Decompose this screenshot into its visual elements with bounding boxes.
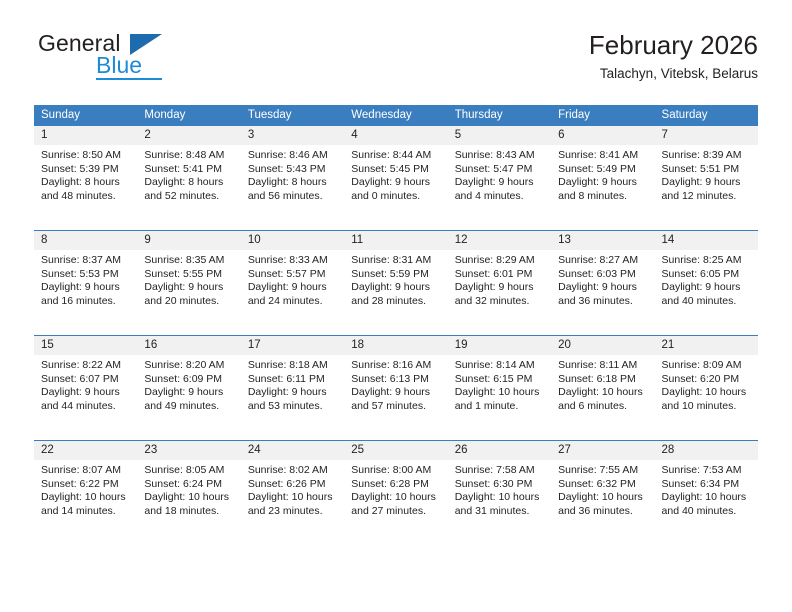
day-details: Sunrise: 8:07 AMSunset: 6:22 PMDaylight:… (34, 460, 137, 518)
sunrise-text: Sunrise: 8:20 AM (144, 359, 235, 373)
day-cell[interactable]: 17Sunrise: 8:18 AMSunset: 6:11 PMDayligh… (241, 336, 344, 441)
day-number: 24 (241, 441, 344, 460)
sunrise-text: Sunrise: 8:02 AM (248, 464, 339, 478)
daylight-text-line2: and 40 minutes. (662, 295, 753, 309)
sunrise-text: Sunrise: 8:46 AM (248, 149, 339, 163)
brand-underline (96, 78, 162, 80)
daylight-text-line2: and 49 minutes. (144, 400, 235, 414)
daylight-text-line2: and 48 minutes. (41, 190, 132, 204)
sunrise-text: Sunrise: 8:25 AM (662, 254, 753, 268)
day-number: 16 (137, 336, 240, 355)
daylight-text-line1: Daylight: 8 hours (144, 176, 235, 190)
weekday-header-saturday: Saturday (655, 105, 758, 126)
day-details: Sunrise: 8:18 AMSunset: 6:11 PMDaylight:… (241, 355, 344, 413)
daylight-text-line1: Daylight: 9 hours (144, 281, 235, 295)
daylight-text-line2: and 20 minutes. (144, 295, 235, 309)
daylight-text-line1: Daylight: 9 hours (351, 386, 442, 400)
sunset-text: Sunset: 6:13 PM (351, 373, 442, 387)
daylight-text-line2: and 24 minutes. (248, 295, 339, 309)
daylight-text-line2: and 52 minutes. (144, 190, 235, 204)
title-block: February 2026 Talachyn, Vitebsk, Belarus (589, 28, 758, 84)
day-cell[interactable]: 12Sunrise: 8:29 AMSunset: 6:01 PMDayligh… (448, 231, 551, 336)
day-details: Sunrise: 7:58 AMSunset: 6:30 PMDaylight:… (448, 460, 551, 518)
daylight-text-line1: Daylight: 10 hours (662, 491, 753, 505)
daylight-text-line2: and 57 minutes. (351, 400, 442, 414)
day-number: 3 (241, 126, 344, 145)
day-number: 5 (448, 126, 551, 145)
day-details: Sunrise: 8:39 AMSunset: 5:51 PMDaylight:… (655, 145, 758, 203)
day-number: 1 (34, 126, 137, 145)
sunset-text: Sunset: 6:24 PM (144, 478, 235, 492)
daylight-text-line1: Daylight: 9 hours (662, 281, 753, 295)
sunrise-text: Sunrise: 8:07 AM (41, 464, 132, 478)
weekday-header-monday: Monday (137, 105, 240, 126)
daylight-text-line2: and 10 minutes. (662, 400, 753, 414)
calendar-week-row: 15Sunrise: 8:22 AMSunset: 6:07 PMDayligh… (34, 336, 758, 441)
day-number: 17 (241, 336, 344, 355)
day-details: Sunrise: 8:27 AMSunset: 6:03 PMDaylight:… (551, 250, 654, 308)
daylight-text-line2: and 8 minutes. (558, 190, 649, 204)
day-cell[interactable]: 2Sunrise: 8:48 AMSunset: 5:41 PMDaylight… (137, 126, 240, 231)
day-cell[interactable]: 10Sunrise: 8:33 AMSunset: 5:57 PMDayligh… (241, 231, 344, 336)
day-number: 7 (655, 126, 758, 145)
daylight-text-line2: and 16 minutes. (41, 295, 132, 309)
sunset-text: Sunset: 6:30 PM (455, 478, 546, 492)
daylight-text-line1: Daylight: 10 hours (455, 491, 546, 505)
daylight-text-line1: Daylight: 9 hours (248, 386, 339, 400)
daylight-text-line1: Daylight: 9 hours (248, 281, 339, 295)
daylight-text-line1: Daylight: 9 hours (455, 176, 546, 190)
sunset-text: Sunset: 6:26 PM (248, 478, 339, 492)
day-details: Sunrise: 7:55 AMSunset: 6:32 PMDaylight:… (551, 460, 654, 518)
daylight-text-line1: Daylight: 9 hours (351, 176, 442, 190)
sunset-text: Sunset: 5:43 PM (248, 163, 339, 177)
daylight-text-line2: and 36 minutes. (558, 295, 649, 309)
day-number: 15 (34, 336, 137, 355)
day-cell[interactable]: 15Sunrise: 8:22 AMSunset: 6:07 PMDayligh… (34, 336, 137, 441)
daylight-text-line2: and 18 minutes. (144, 505, 235, 519)
day-details: Sunrise: 8:11 AMSunset: 6:18 PMDaylight:… (551, 355, 654, 413)
sunset-text: Sunset: 6:28 PM (351, 478, 442, 492)
sunrise-text: Sunrise: 8:29 AM (455, 254, 546, 268)
day-number: 11 (344, 231, 447, 250)
brand-logo[interactable]: General Blue (34, 32, 254, 88)
daylight-text-line2: and 23 minutes. (248, 505, 339, 519)
sunset-text: Sunset: 5:47 PM (455, 163, 546, 177)
day-cell[interactable]: 6Sunrise: 8:41 AMSunset: 5:49 PMDaylight… (551, 126, 654, 231)
sunrise-text: Sunrise: 8:37 AM (41, 254, 132, 268)
day-number: 18 (344, 336, 447, 355)
sunrise-text: Sunrise: 8:16 AM (351, 359, 442, 373)
sunset-text: Sunset: 6:20 PM (662, 373, 753, 387)
daylight-text-line1: Daylight: 10 hours (455, 386, 546, 400)
day-number: 13 (551, 231, 654, 250)
sunset-text: Sunset: 6:15 PM (455, 373, 546, 387)
sunset-text: Sunset: 6:22 PM (41, 478, 132, 492)
sunrise-text: Sunrise: 8:39 AM (662, 149, 753, 163)
day-cell[interactable]: 5Sunrise: 8:43 AMSunset: 5:47 PMDaylight… (448, 126, 551, 231)
daylight-text-line2: and 27 minutes. (351, 505, 442, 519)
sunset-text: Sunset: 6:05 PM (662, 268, 753, 282)
day-cell[interactable]: 25Sunrise: 8:00 AMSunset: 6:28 PMDayligh… (344, 441, 447, 546)
day-details: Sunrise: 8:37 AMSunset: 5:53 PMDaylight:… (34, 250, 137, 308)
day-cell[interactable]: 20Sunrise: 8:11 AMSunset: 6:18 PMDayligh… (551, 336, 654, 441)
day-details: Sunrise: 8:14 AMSunset: 6:15 PMDaylight:… (448, 355, 551, 413)
sunrise-text: Sunrise: 8:31 AM (351, 254, 442, 268)
day-cell[interactable]: 7Sunrise: 8:39 AMSunset: 5:51 PMDaylight… (655, 126, 758, 231)
sunset-text: Sunset: 5:59 PM (351, 268, 442, 282)
calendar-week-row: 8Sunrise: 8:37 AMSunset: 5:53 PMDaylight… (34, 231, 758, 336)
weekday-header-sunday: Sunday (34, 105, 137, 126)
sunrise-text: Sunrise: 8:35 AM (144, 254, 235, 268)
sunset-text: Sunset: 5:51 PM (662, 163, 753, 177)
daylight-text-line2: and 12 minutes. (662, 190, 753, 204)
day-details: Sunrise: 8:31 AMSunset: 5:59 PMDaylight:… (344, 250, 447, 308)
day-number: 28 (655, 441, 758, 460)
day-details: Sunrise: 7:53 AMSunset: 6:34 PMDaylight:… (655, 460, 758, 518)
day-number: 2 (137, 126, 240, 145)
calendar-week-row: 1Sunrise: 8:50 AMSunset: 5:39 PMDaylight… (34, 126, 758, 231)
weekday-header-row: Sunday Monday Tuesday Wednesday Thursday… (34, 105, 758, 126)
sunset-text: Sunset: 5:41 PM (144, 163, 235, 177)
day-number: 21 (655, 336, 758, 355)
sunrise-text: Sunrise: 8:50 AM (41, 149, 132, 163)
sunrise-text: Sunrise: 8:11 AM (558, 359, 649, 373)
page-header: General Blue February 2026 Talachyn, Vit… (34, 28, 758, 98)
daylight-text-line1: Daylight: 10 hours (662, 386, 753, 400)
sunset-text: Sunset: 5:57 PM (248, 268, 339, 282)
daylight-text-line2: and 56 minutes. (248, 190, 339, 204)
daylight-text-line1: Daylight: 9 hours (662, 176, 753, 190)
day-cell[interactable]: 24Sunrise: 8:02 AMSunset: 6:26 PMDayligh… (241, 441, 344, 546)
daylight-text-line1: Daylight: 9 hours (351, 281, 442, 295)
day-cell[interactable]: 14Sunrise: 8:25 AMSunset: 6:05 PMDayligh… (655, 231, 758, 336)
sunset-text: Sunset: 6:07 PM (41, 373, 132, 387)
daylight-text-line1: Daylight: 8 hours (248, 176, 339, 190)
daylight-text-line1: Daylight: 8 hours (41, 176, 132, 190)
day-details: Sunrise: 8:20 AMSunset: 6:09 PMDaylight:… (137, 355, 240, 413)
day-cell[interactable]: 1Sunrise: 8:50 AMSunset: 5:39 PMDaylight… (34, 126, 137, 231)
day-number: 4 (344, 126, 447, 145)
daylight-text-line2: and 31 minutes. (455, 505, 546, 519)
sunrise-text: Sunrise: 8:33 AM (248, 254, 339, 268)
day-details: Sunrise: 8:46 AMSunset: 5:43 PMDaylight:… (241, 145, 344, 203)
sunrise-text: Sunrise: 8:18 AM (248, 359, 339, 373)
daylight-text-line2: and 1 minute. (455, 400, 546, 414)
day-cell[interactable]: 22Sunrise: 8:07 AMSunset: 6:22 PMDayligh… (34, 441, 137, 546)
sunrise-text: Sunrise: 8:41 AM (558, 149, 649, 163)
day-cell[interactable]: 18Sunrise: 8:16 AMSunset: 6:13 PMDayligh… (344, 336, 447, 441)
day-number: 10 (241, 231, 344, 250)
day-number: 9 (137, 231, 240, 250)
day-details: Sunrise: 8:29 AMSunset: 6:01 PMDaylight:… (448, 250, 551, 308)
sunset-text: Sunset: 5:39 PM (41, 163, 132, 177)
sunset-text: Sunset: 6:09 PM (144, 373, 235, 387)
daylight-text-line1: Daylight: 9 hours (41, 386, 132, 400)
day-cell[interactable]: 16Sunrise: 8:20 AMSunset: 6:09 PMDayligh… (137, 336, 240, 441)
calendar-page: General Blue February 2026 Talachyn, Vit… (0, 0, 792, 612)
day-cell[interactable]: 28Sunrise: 7:53 AMSunset: 6:34 PMDayligh… (655, 441, 758, 546)
sunrise-text: Sunrise: 8:27 AM (558, 254, 649, 268)
day-number: 25 (344, 441, 447, 460)
sunrise-text: Sunrise: 8:09 AM (662, 359, 753, 373)
sunrise-text: Sunrise: 8:48 AM (144, 149, 235, 163)
day-number: 23 (137, 441, 240, 460)
daylight-text-line2: and 6 minutes. (558, 400, 649, 414)
sunset-text: Sunset: 6:01 PM (455, 268, 546, 282)
day-details: Sunrise: 8:00 AMSunset: 6:28 PMDaylight:… (344, 460, 447, 518)
day-details: Sunrise: 8:43 AMSunset: 5:47 PMDaylight:… (448, 145, 551, 203)
calendar-week-row: 22Sunrise: 8:07 AMSunset: 6:22 PMDayligh… (34, 441, 758, 546)
day-number: 22 (34, 441, 137, 460)
sunrise-text: Sunrise: 8:14 AM (455, 359, 546, 373)
day-number: 26 (448, 441, 551, 460)
weekday-header-wednesday: Wednesday (344, 105, 447, 126)
day-details: Sunrise: 8:05 AMSunset: 6:24 PMDaylight:… (137, 460, 240, 518)
daylight-text-line1: Daylight: 10 hours (351, 491, 442, 505)
sunset-text: Sunset: 6:18 PM (558, 373, 649, 387)
day-cell[interactable]: 26Sunrise: 7:58 AMSunset: 6:30 PMDayligh… (448, 441, 551, 546)
sunrise-text: Sunrise: 8:00 AM (351, 464, 442, 478)
page-title: February 2026 (589, 28, 758, 62)
weekday-header-thursday: Thursday (448, 105, 551, 126)
day-cell[interactable]: 19Sunrise: 8:14 AMSunset: 6:15 PMDayligh… (448, 336, 551, 441)
day-number: 27 (551, 441, 654, 460)
brand-name-bottom: Blue (96, 54, 142, 77)
day-cell[interactable]: 9Sunrise: 8:35 AMSunset: 5:55 PMDaylight… (137, 231, 240, 336)
daylight-text-line2: and 28 minutes. (351, 295, 442, 309)
day-details: Sunrise: 8:33 AMSunset: 5:57 PMDaylight:… (241, 250, 344, 308)
day-number: 12 (448, 231, 551, 250)
daylight-text-line2: and 53 minutes. (248, 400, 339, 414)
day-number: 6 (551, 126, 654, 145)
day-cell[interactable]: 13Sunrise: 8:27 AMSunset: 6:03 PMDayligh… (551, 231, 654, 336)
sunset-text: Sunset: 6:32 PM (558, 478, 649, 492)
day-number: 14 (655, 231, 758, 250)
daylight-text-line1: Daylight: 10 hours (41, 491, 132, 505)
daylight-text-line1: Daylight: 9 hours (455, 281, 546, 295)
sunset-text: Sunset: 5:55 PM (144, 268, 235, 282)
day-details: Sunrise: 8:35 AMSunset: 5:55 PMDaylight:… (137, 250, 240, 308)
day-details: Sunrise: 8:48 AMSunset: 5:41 PMDaylight:… (137, 145, 240, 203)
daylight-text-line2: and 44 minutes. (41, 400, 132, 414)
day-cell[interactable]: 23Sunrise: 8:05 AMSunset: 6:24 PMDayligh… (137, 441, 240, 546)
sunrise-text: Sunrise: 8:44 AM (351, 149, 442, 163)
weekday-header-friday: Friday (551, 105, 654, 126)
day-details: Sunrise: 8:09 AMSunset: 6:20 PMDaylight:… (655, 355, 758, 413)
daylight-text-line1: Daylight: 9 hours (558, 281, 649, 295)
daylight-text-line1: Daylight: 10 hours (248, 491, 339, 505)
sunset-text: Sunset: 5:53 PM (41, 268, 132, 282)
day-cell[interactable]: 21Sunrise: 8:09 AMSunset: 6:20 PMDayligh… (655, 336, 758, 441)
day-cell[interactable]: 8Sunrise: 8:37 AMSunset: 5:53 PMDaylight… (34, 231, 137, 336)
daylight-text-line2: and 32 minutes. (455, 295, 546, 309)
daylight-text-line2: and 4 minutes. (455, 190, 546, 204)
day-details: Sunrise: 8:44 AMSunset: 5:45 PMDaylight:… (344, 145, 447, 203)
daylight-text-line1: Daylight: 10 hours (558, 386, 649, 400)
daylight-text-line1: Daylight: 9 hours (144, 386, 235, 400)
sunset-text: Sunset: 6:03 PM (558, 268, 649, 282)
sunrise-text: Sunrise: 7:53 AM (662, 464, 753, 478)
day-cell[interactable]: 11Sunrise: 8:31 AMSunset: 5:59 PMDayligh… (344, 231, 447, 336)
day-details: Sunrise: 8:50 AMSunset: 5:39 PMDaylight:… (34, 145, 137, 203)
page-subtitle: Talachyn, Vitebsk, Belarus (589, 64, 758, 84)
sunrise-text: Sunrise: 7:58 AM (455, 464, 546, 478)
calendar-body: 1Sunrise: 8:50 AMSunset: 5:39 PMDaylight… (34, 126, 758, 545)
sunset-text: Sunset: 6:11 PM (248, 373, 339, 387)
sunrise-text: Sunrise: 8:05 AM (144, 464, 235, 478)
daylight-text-line2: and 36 minutes. (558, 505, 649, 519)
daylight-text-line1: Daylight: 9 hours (41, 281, 132, 295)
sunset-text: Sunset: 5:49 PM (558, 163, 649, 177)
sunrise-text: Sunrise: 8:43 AM (455, 149, 546, 163)
sunset-text: Sunset: 5:45 PM (351, 163, 442, 177)
daylight-text-line1: Daylight: 10 hours (144, 491, 235, 505)
day-details: Sunrise: 8:22 AMSunset: 6:07 PMDaylight:… (34, 355, 137, 413)
day-number: 8 (34, 231, 137, 250)
daylight-text-line2: and 0 minutes. (351, 190, 442, 204)
day-cell[interactable]: 4Sunrise: 8:44 AMSunset: 5:45 PMDaylight… (344, 126, 447, 231)
weekday-header-tuesday: Tuesday (241, 105, 344, 126)
sunset-text: Sunset: 6:34 PM (662, 478, 753, 492)
sunrise-text: Sunrise: 7:55 AM (558, 464, 649, 478)
day-details: Sunrise: 8:16 AMSunset: 6:13 PMDaylight:… (344, 355, 447, 413)
day-number: 20 (551, 336, 654, 355)
day-cell[interactable]: 3Sunrise: 8:46 AMSunset: 5:43 PMDaylight… (241, 126, 344, 231)
day-details: Sunrise: 8:02 AMSunset: 6:26 PMDaylight:… (241, 460, 344, 518)
day-details: Sunrise: 8:41 AMSunset: 5:49 PMDaylight:… (551, 145, 654, 203)
daylight-text-line2: and 40 minutes. (662, 505, 753, 519)
day-details: Sunrise: 8:25 AMSunset: 6:05 PMDaylight:… (655, 250, 758, 308)
daylight-text-line1: Daylight: 10 hours (558, 491, 649, 505)
sunrise-text: Sunrise: 8:22 AM (41, 359, 132, 373)
day-number: 19 (448, 336, 551, 355)
day-cell[interactable]: 27Sunrise: 7:55 AMSunset: 6:32 PMDayligh… (551, 441, 654, 546)
calendar-table: Sunday Monday Tuesday Wednesday Thursday… (34, 105, 758, 545)
daylight-text-line2: and 14 minutes. (41, 505, 132, 519)
daylight-text-line1: Daylight: 9 hours (558, 176, 649, 190)
